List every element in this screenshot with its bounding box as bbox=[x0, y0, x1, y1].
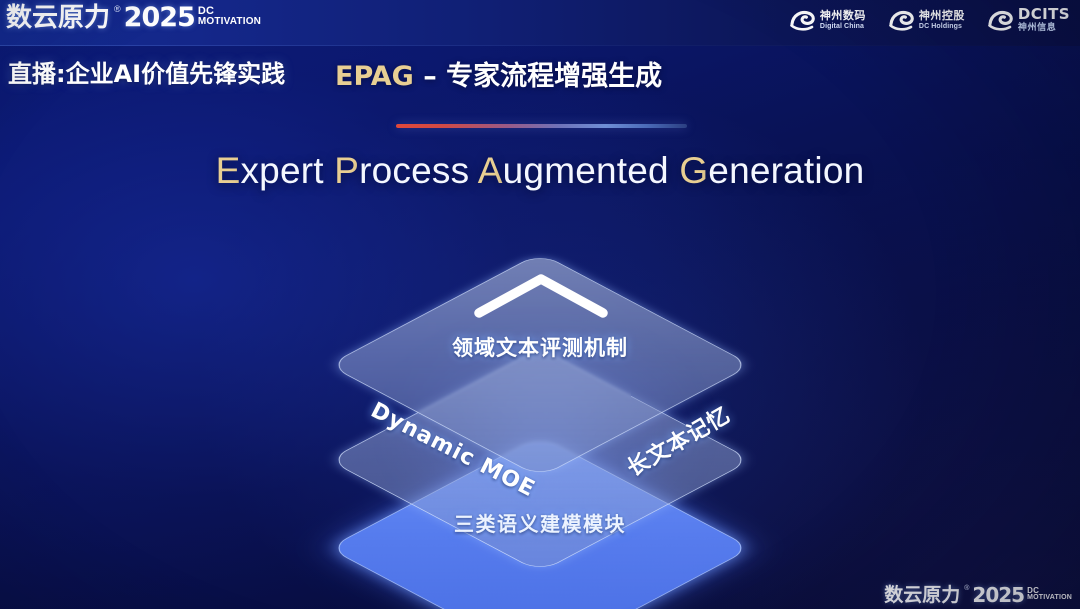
brand-dc-line1: DC bbox=[198, 6, 261, 16]
stack-layer-bottom bbox=[328, 436, 752, 609]
partner-name-en: 神州信息 bbox=[1018, 24, 1070, 33]
subtitle-word-generation: eneration bbox=[708, 150, 864, 191]
partner-name-cn: 神州控股 bbox=[919, 10, 965, 21]
swirl-logo-icon bbox=[789, 9, 815, 32]
partner-logo-text: DCITS 神州信息 bbox=[1018, 7, 1070, 33]
watermark-dc-line2: MOTIVATION bbox=[1027, 594, 1072, 602]
brand-dc-line2: MOTIVATION bbox=[198, 16, 261, 27]
partner-logo-dc-holdings: 神州控股 DC Holdings bbox=[888, 9, 965, 32]
stack-layer-top bbox=[328, 253, 752, 478]
subtitle-word-process: rocess bbox=[359, 150, 469, 191]
partner-logo-text: 神州数码 Digital China bbox=[820, 10, 866, 30]
registered-mark-icon: ® bbox=[964, 585, 969, 592]
registered-mark-icon: ® bbox=[114, 4, 121, 14]
subtitle-word-expert: xpert bbox=[240, 150, 323, 191]
partner-name-cn: DCITS bbox=[1018, 7, 1070, 22]
stack-layer-middle-label-right: 长文本记忆 bbox=[620, 397, 736, 482]
brand-logo-dc: DC MOTIVATION bbox=[198, 6, 261, 27]
brand-watermark: 数云原力 ® 2025 DC MOTIVATION bbox=[884, 585, 1072, 605]
partner-name-en: Digital China bbox=[820, 23, 866, 30]
subtitle-cap-g: G bbox=[679, 150, 708, 191]
partner-logo-group: 神州数码 Digital China 神州控股 DC Holdings bbox=[789, 7, 1070, 33]
partner-logo-dcits: DCITS 神州信息 bbox=[987, 7, 1070, 33]
stack-layer-middle-label-left: Dynamic MOE bbox=[367, 398, 540, 502]
live-session-title: 直播:企业AI价值先锋实践 bbox=[8, 54, 285, 89]
chevron-up-icon bbox=[472, 272, 610, 320]
slide-headline: EPAG – 专家流程增强生成 bbox=[335, 54, 662, 93]
subtitle-word-augmented: ugmented bbox=[503, 150, 669, 191]
slide-subtitle: Expert Process Augmented Generation bbox=[0, 150, 1080, 192]
presentation-slide: 数云原力 ® 2025 DC MOTIVATION 直播:企业AI价值先锋实践 … bbox=[0, 0, 1080, 609]
subtitle-cap-a: A bbox=[478, 150, 503, 191]
stack-layer-top-label: 领域文本评测机制 bbox=[0, 332, 1080, 362]
brand-logo: 数云原力 ® 2025 DC MOTIVATION bbox=[6, 4, 261, 32]
stack-glow bbox=[395, 330, 695, 530]
layer-edge bbox=[328, 253, 752, 478]
partner-logo-digital-china: 神州数码 Digital China bbox=[789, 9, 866, 32]
divider-line bbox=[396, 124, 687, 128]
brand-logo-year: 2025 bbox=[124, 4, 195, 32]
watermark-dc-line1: DC bbox=[1027, 587, 1072, 594]
partner-name-cn: 神州数码 bbox=[820, 10, 866, 21]
watermark-logo-dc: DC MOTIVATION bbox=[1027, 587, 1072, 602]
watermark-logo-year: 2025 bbox=[972, 585, 1024, 605]
headline-chinese: – 专家流程增强生成 bbox=[414, 61, 662, 92]
subtitle-cap-p: P bbox=[334, 150, 359, 191]
swirl-logo-icon bbox=[888, 9, 914, 32]
watermark-logo-cn: 数云原力 bbox=[884, 585, 960, 605]
partner-name-en: DC Holdings bbox=[919, 23, 965, 30]
headline-acronym: EPAG bbox=[335, 61, 414, 92]
swirl-logo-icon bbox=[987, 9, 1013, 32]
stack-layer-middle bbox=[328, 348, 752, 573]
brand-logo-cn: 数云原力 bbox=[6, 4, 110, 32]
subtitle-cap-e: E bbox=[216, 150, 241, 191]
stack-layer-bottom-label: 三类语义建模模块 bbox=[0, 508, 1080, 537]
layer-edge bbox=[328, 348, 752, 573]
layer-edge bbox=[328, 436, 752, 609]
partner-logo-text: 神州控股 DC Holdings bbox=[919, 10, 965, 30]
